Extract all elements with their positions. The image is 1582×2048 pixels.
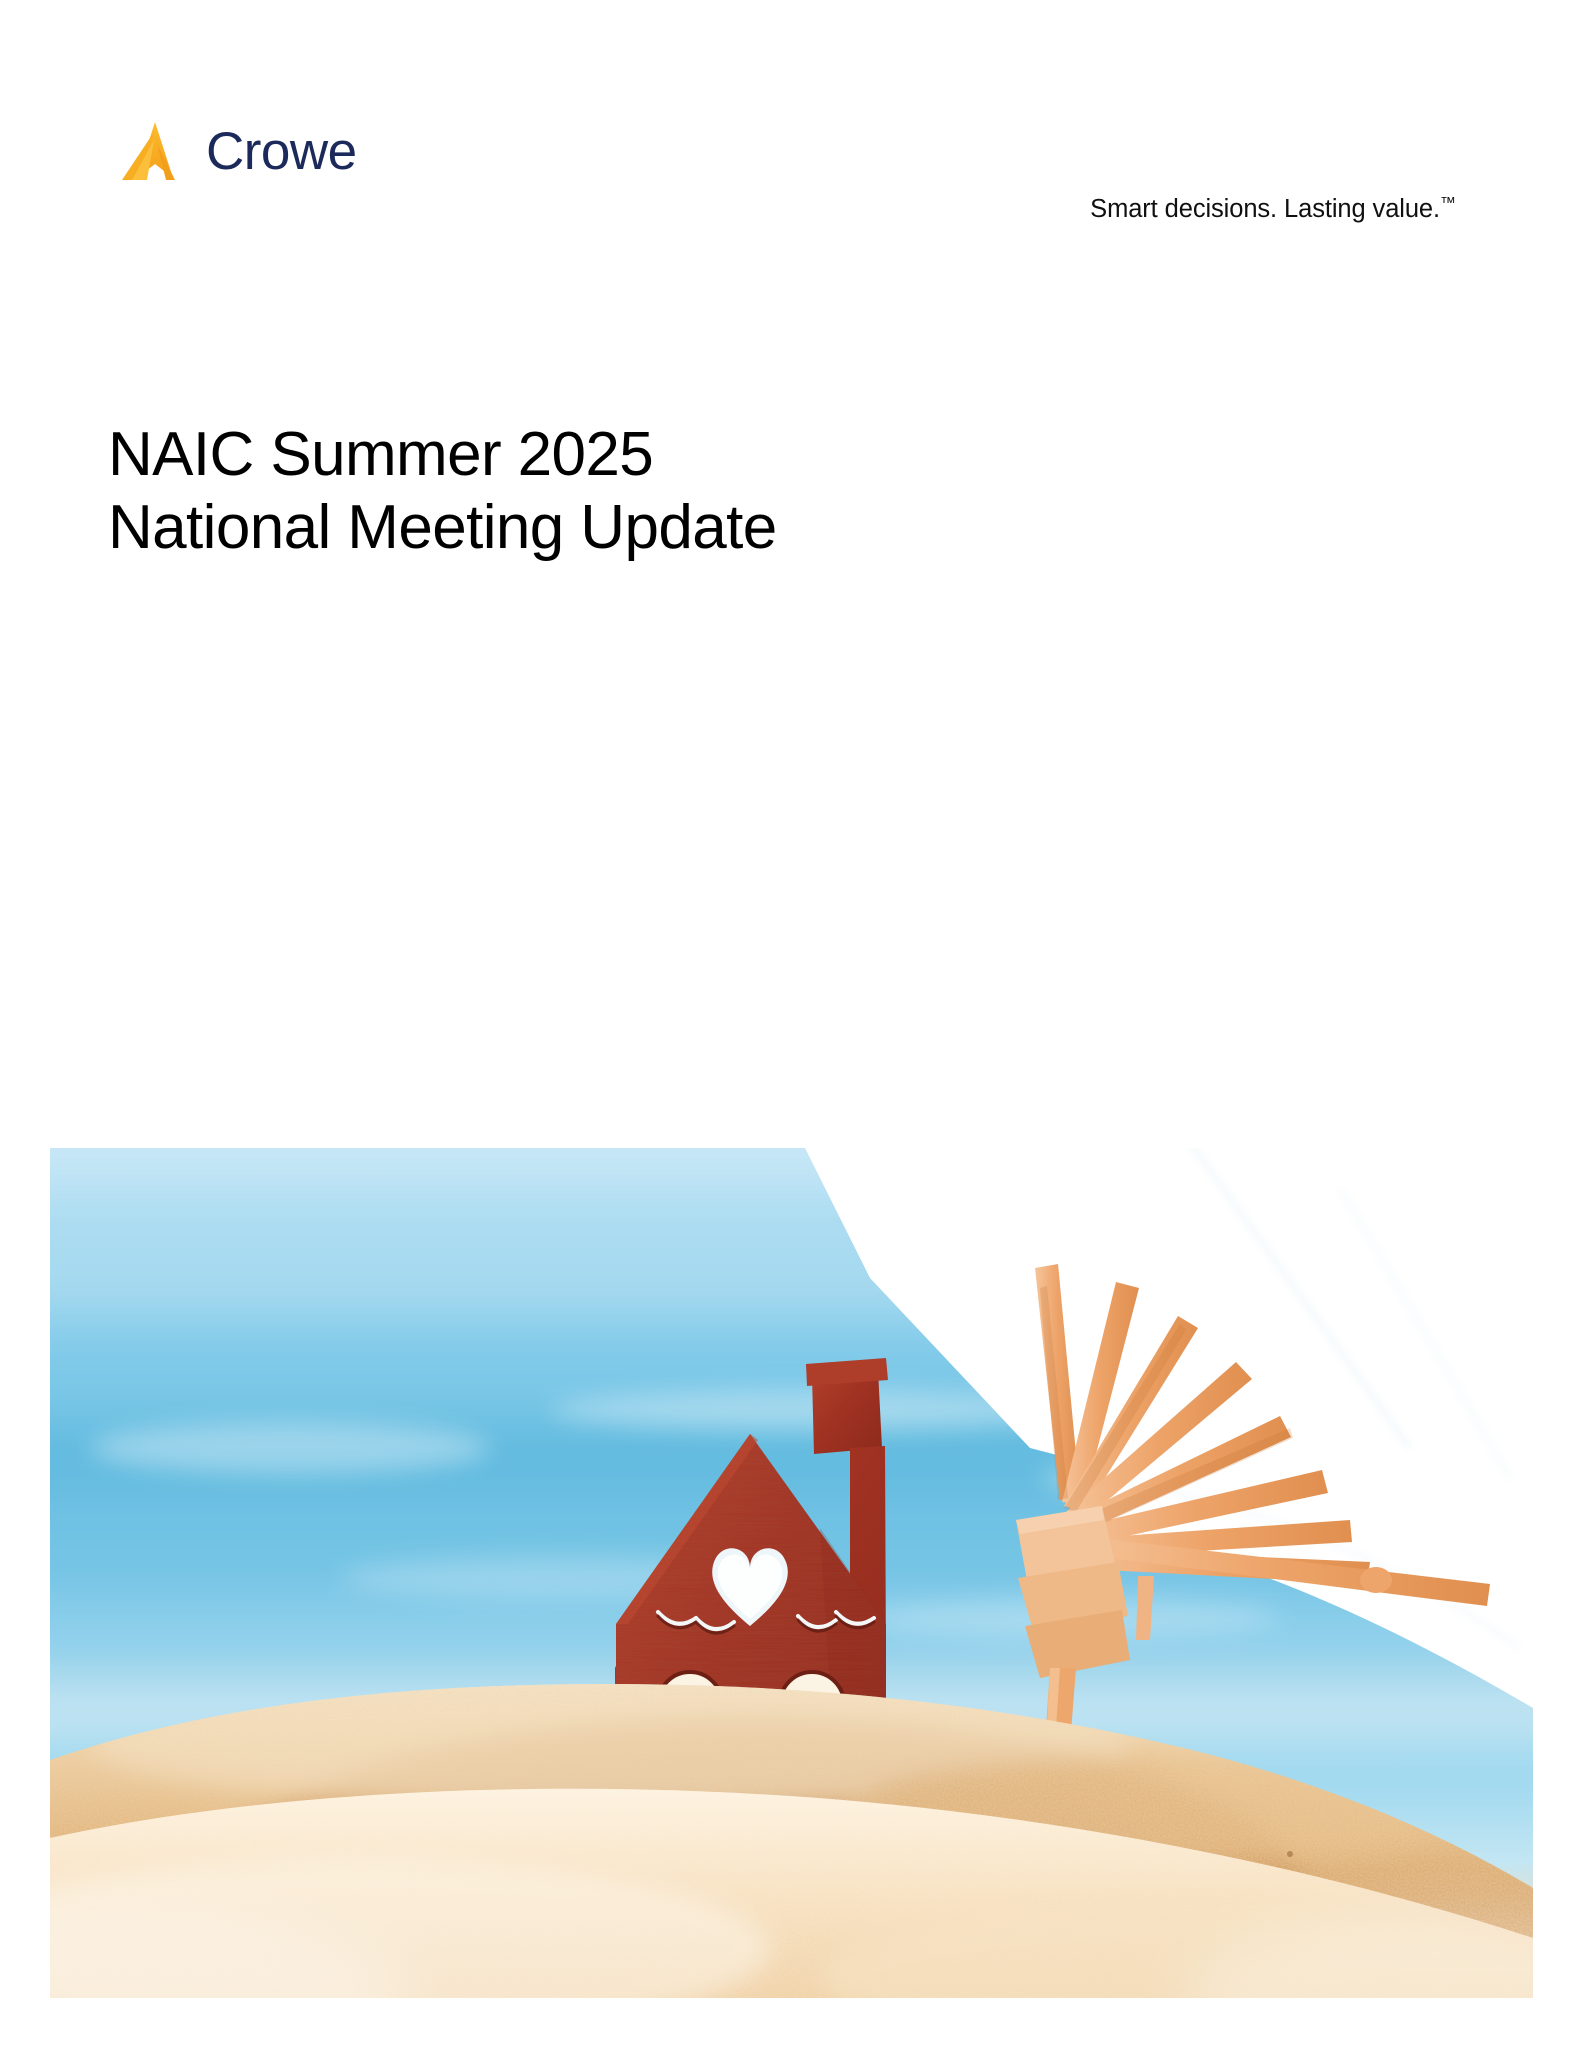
brand-tagline: Smart decisions. Lasting value.™ bbox=[1090, 195, 1456, 224]
tagline-text: Smart decisions. Lasting value. bbox=[1090, 195, 1440, 223]
cover-page: Crowe Smart decisions. Lasting value.™ N… bbox=[0, 0, 1582, 2048]
beach-house-illustration bbox=[50, 1148, 1533, 1998]
crowe-logo: Crowe bbox=[118, 120, 357, 182]
hero-photo bbox=[50, 1148, 1533, 1998]
trademark-symbol: ™ bbox=[1440, 195, 1456, 212]
crowe-chevron-icon bbox=[118, 120, 192, 182]
title-line-1: NAIC Summer 2025 bbox=[108, 418, 777, 491]
page-title: NAIC Summer 2025 National Meeting Update bbox=[108, 418, 777, 564]
title-line-2: National Meeting Update bbox=[108, 491, 777, 564]
crowe-wordmark: Crowe bbox=[206, 125, 357, 178]
